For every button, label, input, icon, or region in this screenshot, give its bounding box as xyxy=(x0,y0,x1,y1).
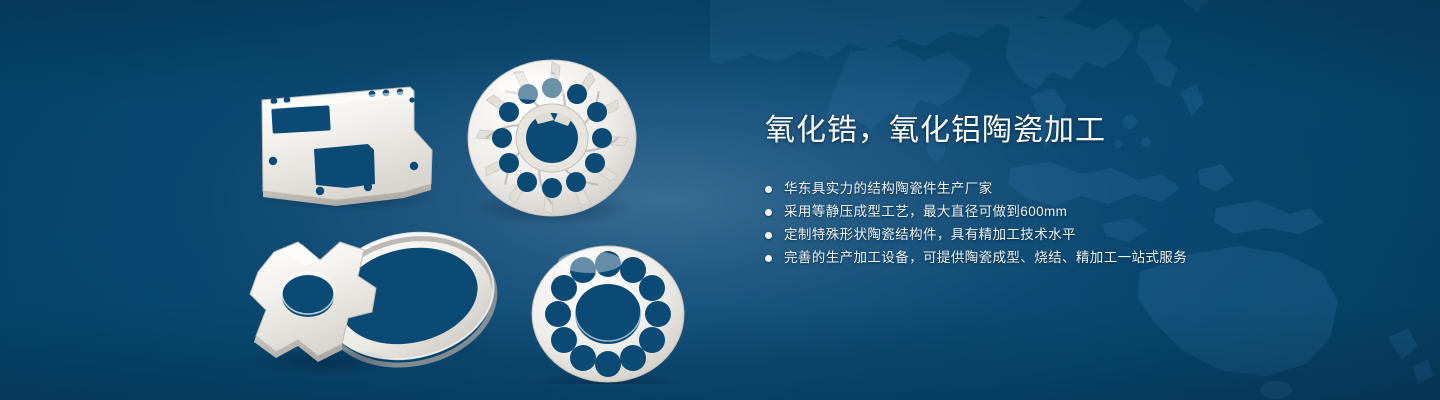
list-item-label: 完善的生产加工设备，可提供陶瓷成型、烧结、精加工一站式服务 xyxy=(784,247,1187,269)
ceramic-plate-with-cutouts xyxy=(254,87,438,212)
list-item-label: 定制特殊形状陶瓷结构件，具有精加工技术水平 xyxy=(784,224,1076,246)
ceramic-impeller-disc xyxy=(468,60,636,226)
bullet-dot-icon xyxy=(765,186,772,193)
list-item: 华东具实力的结构陶瓷件生产厂家 xyxy=(765,178,1385,200)
list-item-label: 华东具实力的结构陶瓷件生产厂家 xyxy=(784,178,993,200)
page-title: 氧化锆，氧化铝陶瓷加工 xyxy=(765,110,1385,152)
hero-banner: 氧化锆，氧化铝陶瓷加工 华东具实力的结构陶瓷件生产厂家 采用等静压成型工艺，最大… xyxy=(0,0,1440,400)
ceramic-perforated-disc xyxy=(532,246,684,384)
feature-list: 华东具实力的结构陶瓷件生产厂家 采用等静压成型工艺，最大直径可做到600mm 定… xyxy=(765,178,1385,269)
banner-copy: 氧化锆，氧化铝陶瓷加工 华东具实力的结构陶瓷件生产厂家 采用等静压成型工艺，最大… xyxy=(765,110,1385,269)
bullet-dot-icon xyxy=(765,255,772,262)
bullet-dot-icon xyxy=(765,232,772,239)
ceramic-products-image xyxy=(236,44,716,384)
list-item: 采用等静压成型工艺，最大直径可做到600mm xyxy=(765,201,1385,223)
bullet-dot-icon xyxy=(765,209,772,216)
list-item-label: 采用等静压成型工艺，最大直径可做到600mm xyxy=(784,201,1067,223)
list-item: 完善的生产加工设备，可提供陶瓷成型、烧结、精加工一站式服务 xyxy=(765,247,1385,269)
list-item: 定制特殊形状陶瓷结构件，具有精加工技术水平 xyxy=(765,224,1385,246)
